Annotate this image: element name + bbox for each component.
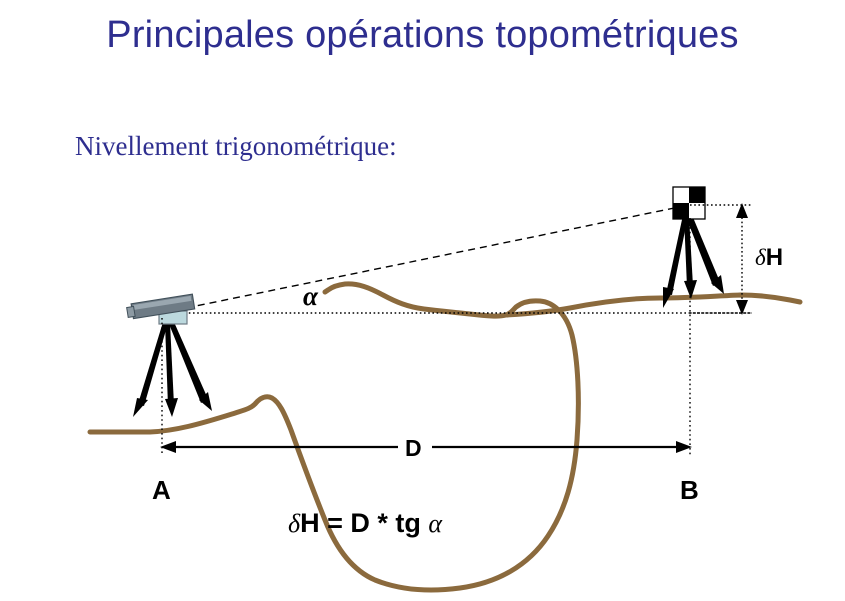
station-label-a: A bbox=[152, 475, 171, 505]
slide-canvas: Principales opérations topométriques Niv… bbox=[0, 0, 845, 601]
tripod-leg-left-arrowhead-a bbox=[133, 398, 148, 417]
checkerboard-target-b bbox=[673, 187, 705, 219]
tripod-leg-left-a bbox=[138, 322, 168, 406]
tripod-leg-center-arrowhead-a bbox=[165, 398, 178, 417]
target-quad-top-right bbox=[689, 187, 705, 203]
distance-arrowhead-right bbox=[676, 441, 692, 453]
formula-delta-symbol: δ bbox=[288, 509, 301, 538]
formula-delta-h: δH = D * tg α bbox=[288, 508, 443, 538]
height-label-delta: δ bbox=[755, 245, 766, 270]
height-label-h: H bbox=[766, 244, 783, 271]
target-quad-bottom-left bbox=[673, 203, 689, 219]
formula-alpha-symbol: α bbox=[428, 509, 443, 538]
height-label-dh: δH bbox=[755, 244, 783, 271]
line-of-sight bbox=[186, 206, 684, 308]
terrain-profile bbox=[90, 284, 800, 590]
angle-alpha-label: α bbox=[303, 281, 319, 311]
tripod-leg-center-a bbox=[165, 323, 174, 406]
station-label-b: B bbox=[680, 475, 699, 505]
trigonometric-levelling-diagram: α bbox=[0, 0, 845, 601]
distance-measure-d: D bbox=[160, 435, 692, 461]
telescope-eyepiece-a bbox=[127, 306, 135, 317]
distance-label-d: D bbox=[405, 435, 422, 461]
target-station-b bbox=[663, 187, 724, 308]
tripod-legs-a bbox=[133, 322, 212, 417]
tripod-leg-right-a bbox=[169, 322, 208, 403]
formula-expression: H = D * tg bbox=[300, 508, 428, 538]
theodolite-station-a bbox=[126, 294, 212, 417]
